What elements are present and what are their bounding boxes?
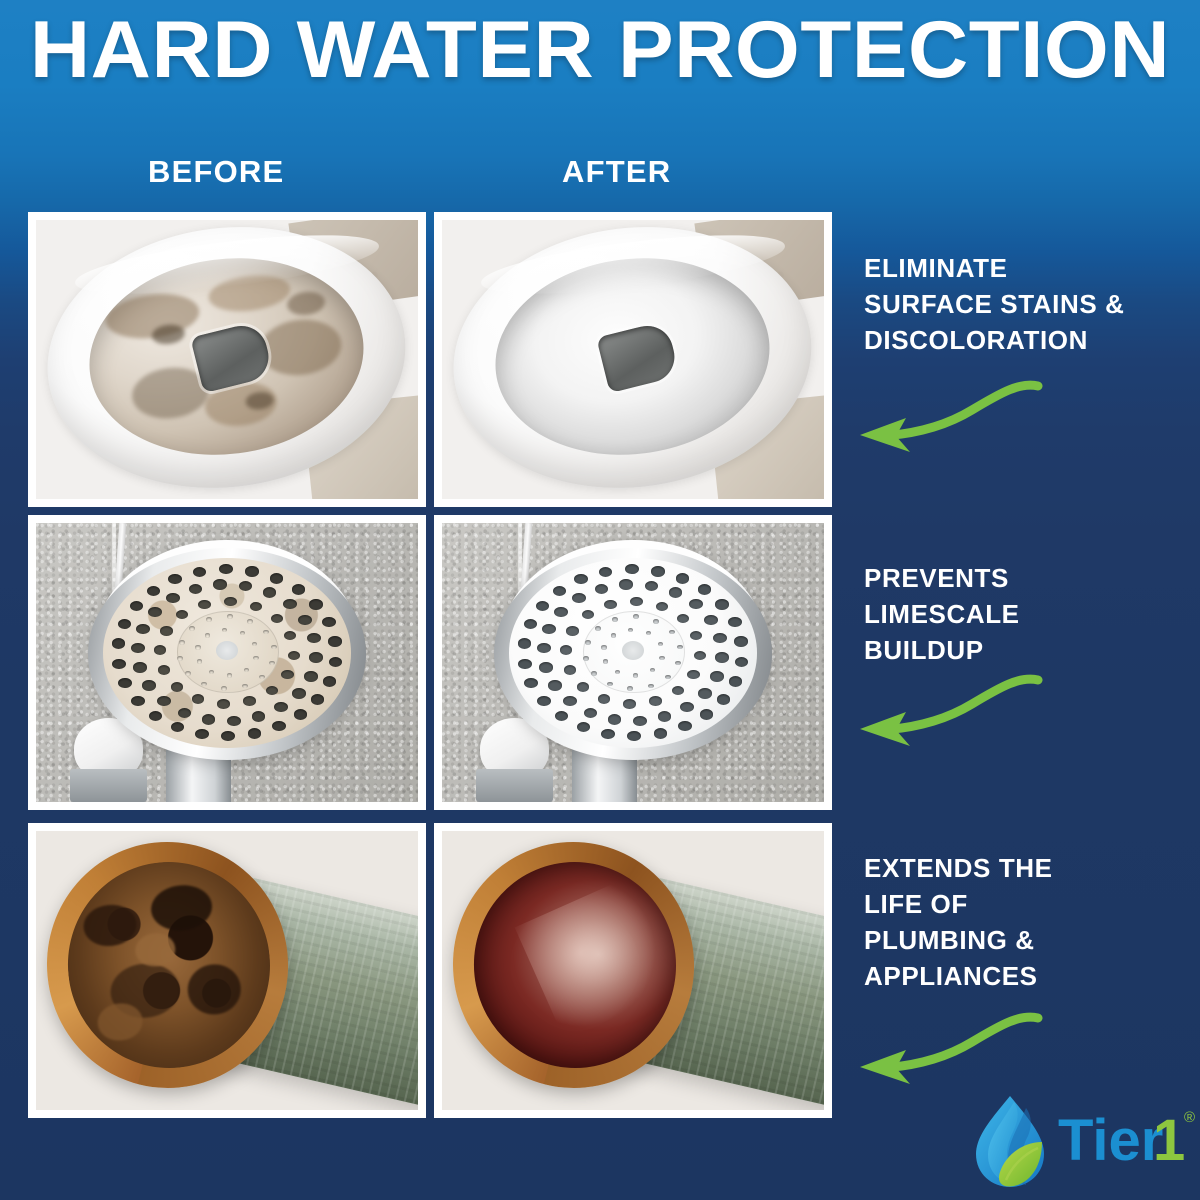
showerhead-nozzle bbox=[728, 617, 742, 627]
showerhead-nozzle bbox=[292, 584, 306, 594]
showerhead-nozzle bbox=[311, 694, 325, 704]
showerhead-nozzle bbox=[271, 645, 277, 650]
showerhead-nozzle bbox=[252, 711, 266, 721]
brand-numeral: 1 bbox=[1153, 1108, 1185, 1173]
showerhead-nozzle bbox=[288, 651, 300, 660]
showerhead-nozzle bbox=[564, 665, 576, 674]
showerhead-nozzle bbox=[168, 574, 182, 584]
showerhead-nozzle bbox=[283, 599, 297, 609]
showerhead-nozzle bbox=[680, 702, 694, 712]
toilet-after-image bbox=[442, 220, 824, 499]
showerhead-nozzle bbox=[274, 702, 288, 712]
showerhead-nozzle bbox=[524, 619, 538, 629]
showerhead-before-image bbox=[36, 523, 418, 802]
showerhead-nozzle bbox=[247, 619, 253, 624]
showerhead-nozzle bbox=[735, 657, 749, 667]
showerhead-nozzle bbox=[160, 626, 172, 635]
showerhead-nozzle bbox=[157, 696, 171, 706]
showerhead-nozzle bbox=[329, 657, 343, 667]
showerhead-nozzle bbox=[554, 607, 568, 617]
showerhead-after-image bbox=[442, 523, 824, 802]
showerhead-nozzle bbox=[263, 630, 269, 635]
showerhead-nozzle bbox=[131, 643, 145, 653]
benefit-line: LIMESCALE bbox=[864, 596, 1184, 632]
showerhead-nozzle bbox=[245, 566, 259, 576]
showerhead-nozzle bbox=[193, 567, 207, 577]
showerhead-nozzle bbox=[665, 675, 671, 680]
showerhead-nozzle bbox=[539, 662, 553, 672]
showerhead-nozzle bbox=[281, 670, 293, 679]
showerhead-nozzle bbox=[633, 614, 639, 619]
showerhead-nozzle bbox=[284, 631, 296, 640]
column-header-after: AFTER bbox=[562, 154, 671, 190]
showerhead-nozzle bbox=[205, 633, 210, 637]
curved-arrow-left-icon bbox=[852, 378, 1052, 458]
showerhead-nozzle bbox=[677, 645, 683, 650]
showerhead-nozzle bbox=[595, 626, 601, 631]
showerhead-nozzle bbox=[577, 722, 591, 732]
showerhead-nozzle bbox=[729, 676, 743, 686]
showerhead-nozzle bbox=[694, 651, 706, 660]
showerhead-nozzle bbox=[171, 722, 185, 732]
showerhead-nozzle bbox=[131, 696, 145, 706]
showerhead-nozzle bbox=[687, 670, 699, 679]
toilet-drain bbox=[597, 321, 680, 393]
showerhead-nozzle bbox=[536, 601, 550, 611]
showerhead-nozzle bbox=[322, 617, 336, 627]
showerhead-face-clean bbox=[509, 558, 757, 748]
showerhead-nozzle bbox=[217, 699, 229, 708]
photo-panel-showerhead-after bbox=[434, 515, 832, 810]
photo-panel-toilet-after bbox=[434, 212, 832, 507]
curved-arrow-left-icon bbox=[852, 672, 1052, 752]
photo-panel-toilet-before bbox=[28, 212, 426, 507]
showerhead-nozzle bbox=[676, 573, 690, 583]
showerhead-nozzle bbox=[601, 645, 606, 649]
showerhead-nozzle bbox=[659, 656, 664, 660]
showerhead-nozzle bbox=[630, 597, 642, 606]
showerhead-nozzle bbox=[601, 729, 615, 739]
brand-logo: Tier 1 ® bbox=[962, 1092, 1192, 1192]
showerhead-nozzle bbox=[250, 602, 262, 611]
brand-wordmark: Tier 1 ® bbox=[1058, 1098, 1198, 1184]
showerhead-nozzle bbox=[118, 619, 132, 629]
showerhead-nozzle bbox=[553, 586, 567, 596]
showerhead-nozzle bbox=[309, 652, 323, 662]
showerhead-nozzle bbox=[713, 633, 727, 643]
showerhead-nozzle bbox=[649, 696, 661, 705]
showerhead-nozzle bbox=[704, 615, 718, 625]
showerhead-nozzle bbox=[698, 584, 712, 594]
pipe-after-image bbox=[442, 831, 824, 1110]
showerhead-nozzle bbox=[651, 566, 665, 576]
showerhead-nozzle bbox=[178, 708, 192, 718]
showerhead-nozzle bbox=[227, 673, 232, 677]
showerhead-nozzle bbox=[584, 708, 598, 718]
showerhead-nozzle bbox=[585, 640, 591, 645]
showerhead-nozzle bbox=[734, 636, 748, 646]
showerhead-nozzle bbox=[221, 731, 235, 741]
showerhead-nozzle bbox=[599, 567, 613, 577]
showerhead-nozzle bbox=[582, 610, 594, 619]
benefit-line: APPLIANCES bbox=[864, 958, 1184, 994]
showerhead-nozzle bbox=[197, 659, 202, 663]
showerhead-nozzle bbox=[219, 564, 233, 574]
showerhead-nozzle bbox=[195, 645, 200, 649]
showerhead-nozzle bbox=[227, 614, 233, 619]
showerhead-nozzle bbox=[294, 709, 308, 719]
benefit-extends-life: EXTENDS THE LIFE OF PLUMBING & APPLIANCE… bbox=[864, 850, 1184, 994]
showerhead-nozzle bbox=[518, 659, 532, 669]
showerhead-nozzle bbox=[689, 599, 703, 609]
toilet-before-image bbox=[36, 220, 418, 499]
showerhead-nozzle bbox=[595, 584, 609, 594]
showerhead-nozzle bbox=[158, 665, 170, 674]
photo-panel-pipe-after bbox=[434, 823, 832, 1118]
showerhead-nozzle bbox=[202, 714, 216, 724]
showerhead-nozzle bbox=[243, 696, 255, 705]
showerhead-nozzle bbox=[130, 601, 144, 611]
showerhead-nozzle bbox=[142, 680, 156, 690]
registered-trademark-icon: ® bbox=[1184, 1109, 1195, 1126]
showerhead-nozzle bbox=[574, 574, 588, 584]
showerhead-nozzle bbox=[633, 716, 647, 726]
showerhead-nozzle bbox=[112, 659, 126, 669]
showerhead-nozzle bbox=[239, 581, 253, 591]
showerhead-nozzle bbox=[133, 662, 147, 672]
showerhead-nozzle bbox=[715, 652, 729, 662]
benefit-line: EXTENDS THE bbox=[864, 850, 1184, 886]
showerhead-nozzle bbox=[263, 587, 277, 597]
showerhead-nozzle bbox=[698, 688, 712, 698]
showerhead-nozzle bbox=[213, 579, 227, 589]
benefit-line: PREVENTS bbox=[864, 560, 1184, 596]
showerhead-nozzle bbox=[248, 728, 262, 738]
showerhead-nozzle bbox=[328, 636, 342, 646]
showerhead-nozzle bbox=[654, 728, 668, 738]
showerhead-nozzle bbox=[192, 694, 204, 703]
showerhead-nozzle bbox=[118, 678, 132, 688]
showerhead-nozzle bbox=[149, 711, 163, 721]
benefit-line: BUILDUP bbox=[864, 632, 1184, 668]
infographic-canvas: HARD WATER PROTECTION BEFORE AFTER bbox=[0, 0, 1200, 1200]
brand-name: Tier bbox=[1058, 1108, 1163, 1173]
shower-knob-base bbox=[476, 769, 552, 802]
showerhead-nozzle bbox=[227, 716, 241, 726]
showerhead-nozzle bbox=[690, 631, 702, 640]
showerhead-nozzle bbox=[266, 686, 278, 695]
showerhead-nozzle bbox=[537, 696, 551, 706]
photo-panel-pipe-before bbox=[28, 823, 426, 1118]
showerhead-nozzle bbox=[166, 593, 180, 603]
showerhead-nozzle bbox=[537, 643, 551, 653]
showerhead-nozzle bbox=[625, 564, 639, 574]
showerhead-nozzle bbox=[658, 711, 672, 721]
curved-arrow-left-icon bbox=[852, 1010, 1052, 1090]
showerhead-nozzle bbox=[270, 573, 284, 583]
showerhead-nozzle bbox=[189, 584, 203, 594]
showerhead-nozzle bbox=[542, 624, 556, 634]
benefit-line: DISCOLORATION bbox=[864, 322, 1184, 358]
showerhead-nozzle bbox=[147, 586, 161, 596]
showerhead-nozzle bbox=[548, 680, 562, 690]
showerhead-nozzle bbox=[555, 711, 569, 721]
benefit-line: LIFE OF bbox=[864, 886, 1184, 922]
water-droplet-leaf-icon bbox=[962, 1092, 1058, 1192]
showerhead-nozzle bbox=[298, 615, 312, 625]
benefit-line: ELIMINATE bbox=[864, 250, 1184, 286]
showerhead-nozzle bbox=[627, 731, 641, 741]
showerhead-nozzle bbox=[206, 617, 212, 622]
showerhead-nozzle bbox=[253, 656, 258, 660]
showerhead-nozzle bbox=[612, 617, 618, 622]
showerhead-nozzle bbox=[176, 610, 188, 619]
showerhead-nozzle bbox=[653, 619, 659, 624]
showerhead-nozzle bbox=[524, 678, 538, 688]
showerhead-nozzle bbox=[572, 593, 586, 603]
showerhead-nozzle bbox=[700, 709, 714, 719]
showerhead-nozzle bbox=[189, 626, 195, 631]
showerhead-nozzle bbox=[195, 729, 209, 739]
showerhead-nozzle bbox=[566, 626, 578, 635]
showerhead-nozzle bbox=[598, 694, 610, 703]
showerhead-face-scaled bbox=[103, 558, 351, 748]
toilet-drain bbox=[191, 321, 274, 393]
showerhead-nozzle bbox=[154, 645, 166, 654]
benefit-eliminate-stains: ELIMINATE SURFACE STAINS & DISCOLORATION bbox=[864, 250, 1184, 358]
showerhead-nozzle bbox=[292, 688, 306, 698]
showerhead-nozzle bbox=[323, 676, 337, 686]
showerhead-nozzle bbox=[678, 721, 692, 731]
showerhead-nozzle bbox=[560, 645, 572, 654]
showerhead-nozzle bbox=[272, 721, 286, 731]
showerhead-nozzle bbox=[603, 659, 608, 663]
showerhead-nozzle bbox=[611, 633, 616, 637]
showerhead-nozzle bbox=[307, 633, 321, 643]
showerhead-nozzle bbox=[148, 607, 162, 617]
benefit-line: SURFACE STAINS & bbox=[864, 286, 1184, 322]
showerhead-nozzle bbox=[309, 599, 323, 609]
column-header-before: BEFORE bbox=[148, 154, 284, 190]
showerhead-nozzle bbox=[518, 638, 532, 648]
showerhead-nozzle bbox=[604, 600, 616, 609]
showerhead-nozzle bbox=[563, 696, 577, 706]
showerhead-nozzle bbox=[710, 671, 724, 681]
benefit-prevents-limescale: PREVENTS LIMESCALE BUILDUP bbox=[864, 560, 1184, 668]
showerhead-nozzle bbox=[136, 624, 150, 634]
shower-knob-base bbox=[70, 769, 146, 802]
showerhead-nozzle bbox=[717, 694, 731, 704]
showerhead-nozzle bbox=[619, 579, 633, 589]
showerhead-nozzle bbox=[271, 614, 283, 623]
photo-panel-showerhead-before bbox=[28, 515, 426, 810]
showerhead-nozzle bbox=[623, 699, 635, 708]
showerhead-nozzle bbox=[608, 714, 622, 724]
showerhead-nozzle bbox=[715, 599, 729, 609]
showerhead-nozzle bbox=[656, 602, 668, 611]
showerhead-nozzle bbox=[179, 640, 185, 645]
showerhead-nozzle bbox=[677, 614, 689, 623]
showerhead-nozzle bbox=[304, 671, 318, 681]
showerhead-nozzle bbox=[669, 630, 675, 635]
pipe-before-image bbox=[36, 831, 418, 1110]
showerhead-nozzle bbox=[112, 638, 126, 648]
showerhead-nozzle bbox=[669, 587, 683, 597]
showerhead-nozzle bbox=[224, 597, 236, 606]
showerhead-nozzle bbox=[577, 682, 589, 691]
showerhead-nozzle bbox=[672, 686, 684, 695]
showerhead-nozzle bbox=[171, 682, 183, 691]
page-title: HARD WATER PROTECTION bbox=[0, 4, 1200, 96]
benefit-line: PLUMBING & bbox=[864, 922, 1184, 958]
showerhead-nozzle bbox=[633, 673, 638, 677]
showerhead-nozzle bbox=[198, 600, 210, 609]
showerhead-nozzle bbox=[645, 581, 659, 591]
showerhead-nozzle bbox=[259, 675, 265, 680]
